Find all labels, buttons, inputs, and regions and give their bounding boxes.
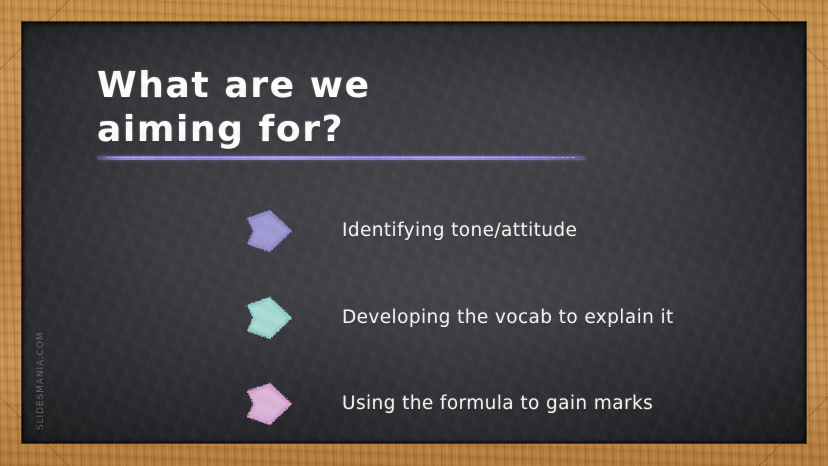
chalkboard-surface: What are we aiming for? — [22, 22, 806, 443]
list-item-label: Developing the vocab to explain it — [342, 306, 674, 330]
list-item: Using the formula to gain marks — [240, 375, 653, 433]
pentagon-arrow-icon — [240, 375, 298, 433]
slide-content: What are we aiming for? — [22, 22, 806, 443]
page-title: What are we aiming for? — [97, 64, 527, 152]
chalkboard-slide: What are we aiming for? — [0, 0, 828, 466]
slidesmania-watermark: SLIDESMANIA.COM — [36, 334, 46, 430]
title-underline-divider — [97, 156, 585, 160]
list-item: Identifying tone/attitude — [240, 202, 577, 260]
list-item: Developing the vocab to explain it — [240, 289, 674, 347]
list-item-label: Identifying tone/attitude — [342, 219, 577, 243]
list-item-label: Using the formula to gain marks — [342, 392, 653, 416]
pentagon-arrow-icon — [240, 202, 298, 260]
pentagon-arrow-icon — [240, 289, 298, 347]
